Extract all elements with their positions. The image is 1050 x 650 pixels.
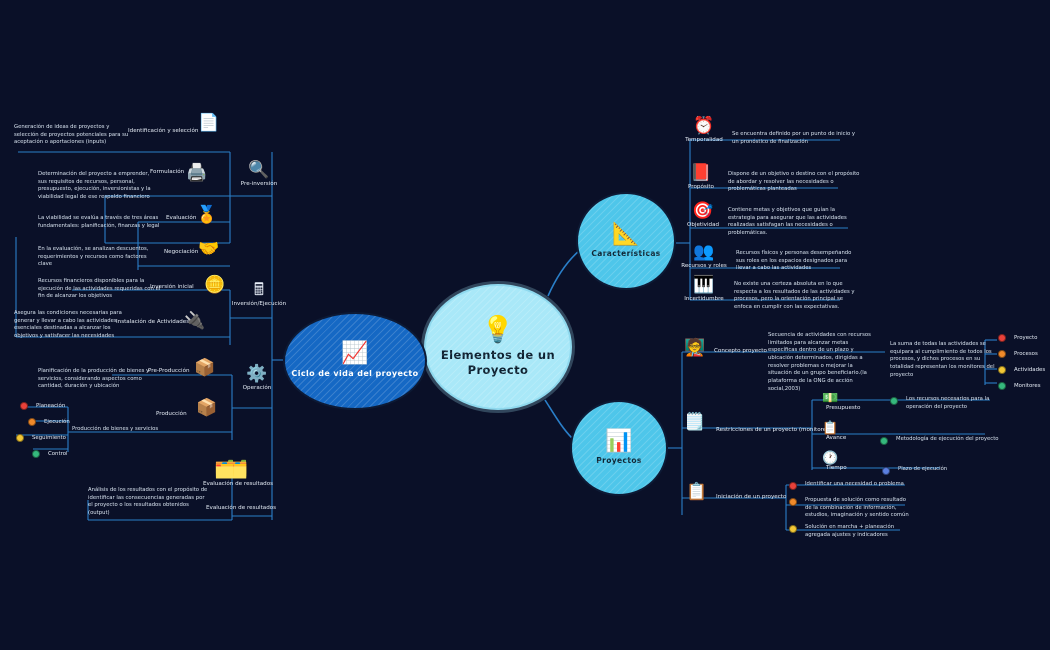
restriction-avance[interactable]: 📋 Avance — [822, 422, 878, 454]
lifecycle-item-label: Evaluación — [166, 215, 196, 221]
lifecycle-item-desc: Determinación del proyecto a emprender, … — [38, 171, 158, 202]
legend-item-seguimiento[interactable]: Seguimiento — [16, 434, 80, 442]
branch-projects-label: Proyectos — [596, 456, 642, 465]
bullet-dot — [890, 397, 898, 405]
notebook-pencil-ruler-icon: 📐 — [612, 224, 639, 246]
initiation-item[interactable]: Propuesta de solución como resultado de … — [789, 497, 909, 520]
legend-item-planeacion[interactable]: Planeación — [20, 402, 80, 410]
characteristic-objetividad[interactable]: 🎯 Objetividad — [678, 203, 728, 228]
dashboard-analytics-icon: 📊 — [605, 431, 632, 453]
concept-legend: Proyecto Procesos Actividades Monitores — [998, 334, 1050, 390]
restriction-desc: Los recursos necesarios para la operació… — [906, 396, 1000, 411]
legend-item-control[interactable]: Control — [32, 450, 80, 458]
hierarchy-icon: 🗂️ — [196, 462, 280, 479]
lifecycle-item-produccion[interactable]: Producción de bienes y servicios — [72, 426, 212, 434]
restriction-presupuesto[interactable]: 💵 Presupuesto — [822, 392, 878, 424]
central-node[interactable]: 💡 Elementos de un Proyecto — [424, 284, 572, 410]
concept-desc: Secuencia de actividades con recursos li… — [768, 332, 878, 393]
restriction-desc-row: Plazo de ejecución — [882, 466, 992, 475]
restriction-desc: Metodología de ejecución del proyecto — [896, 436, 999, 444]
characteristic-label: Recursos y roles — [676, 263, 732, 269]
printer-icon: 🖨️ — [186, 165, 207, 182]
package-box-icon: 📦 — [196, 400, 217, 417]
power-plug-icon: 🔌 — [184, 313, 205, 330]
book-icon: 📕 — [678, 165, 724, 182]
legend-label: Ejecución — [44, 419, 70, 425]
initiation-item[interactable]: Identificar una necesidad o problema — [789, 481, 909, 490]
hierarchy-icon: 🗂️ — [214, 462, 235, 479]
lifecycle-item-label: Negociación — [164, 249, 198, 255]
branch-lifecycle-label: Ciclo de vida del proyecto — [291, 369, 418, 379]
bullet-dot — [882, 467, 890, 475]
legend-label: Planeación — [36, 403, 65, 409]
initiation-item[interactable]: Solución en marcha + planeación agregada… — [789, 524, 907, 539]
production-legend: Planeación Ejecución Seguimiento Control — [16, 402, 80, 458]
legend-item-actividades[interactable]: Actividades — [998, 366, 1050, 374]
boxes-icon: 📦 — [194, 360, 215, 377]
clock-icon: 🕐 — [822, 452, 878, 465]
document-search-icon: 📄 — [198, 115, 219, 132]
lifecycle-phase-label: Operación — [226, 385, 288, 391]
lifecycle-item-desc: Análisis de los resultados con el propós… — [88, 487, 210, 518]
legend-dot — [998, 334, 1006, 342]
folder-pencil-icon: 🗒️ — [684, 414, 705, 431]
lifecycle-item-desc: La viabilidad se evalúa a través de tres… — [38, 215, 162, 230]
lifecycle-item-label: Inversión inicial — [150, 284, 194, 290]
characteristic-label: Propósito — [678, 184, 724, 190]
calculator-icon: 🖩 — [222, 282, 296, 299]
idea-pix-icon: 💡 — [482, 317, 514, 343]
presentation-teacher-icon: 🧑‍🏫 — [684, 340, 705, 357]
checklist-icon: 📋 — [822, 422, 878, 435]
lifecycle-item-formulacion[interactable]: Determinación del proyecto a emprender, … — [38, 171, 158, 202]
concept-label: Concepto proyecto — [714, 348, 767, 354]
restrictions-label: Restricciones de un proyecto (monitores)… — [716, 427, 833, 433]
coin-dollar-icon: 🪙 — [204, 277, 225, 294]
characteristic-desc: Dispone de un objetivo o destino con el … — [728, 171, 860, 194]
legend-item-ejecucion[interactable]: Ejecución — [28, 418, 80, 426]
characteristic-desc: Se encuentra definido por un punto de in… — [732, 131, 860, 146]
lifecycle-item-label: Evaluación de resultados — [206, 505, 276, 511]
characteristic-label: Incertidumbre — [676, 296, 732, 302]
characteristic-incertidumbre[interactable]: 🎹 Incertidumbre — [676, 277, 732, 302]
restriction-desc: Plazo de ejecución — [898, 466, 947, 474]
lifecycle-item-negociacion[interactable]: En la evaluación, se analizan descuentos… — [38, 246, 162, 269]
gears-icon: ⚙️ — [226, 366, 288, 383]
legend-dot — [28, 418, 36, 426]
lifecycle-item-label: Formulación — [150, 169, 184, 175]
characteristic-recursos-roles[interactable]: 👥 Recursos y roles — [676, 244, 732, 269]
lifecycle-phase-label: Pre-inversión — [228, 181, 290, 187]
legend-dot — [20, 402, 28, 410]
branch-projects[interactable]: 📊 Proyectos — [570, 400, 668, 496]
lifecycle-item-instalacion[interactable]: Asegura las condiciones necesarias para … — [14, 310, 132, 341]
lifecycle-phase-pre-inversion[interactable]: 🔍 Pre-inversión — [228, 162, 290, 187]
lifecycle-item-evaluacion-resultados[interactable]: Análisis de los resultados con el propós… — [88, 487, 210, 518]
lifecycle-item-desc: Asegura las condiciones necesarias para … — [14, 310, 132, 341]
lifecycle-phase-operacion[interactable]: ⚙️ Operación — [226, 366, 288, 391]
hatch-texture — [426, 286, 570, 408]
lifecycle-item-inversion-inicial[interactable]: Recursos financieros disponibles para la… — [38, 278, 162, 301]
lifecycle-phase-inversion-ejecucion[interactable]: 🖩 Inversión/Ejecución — [222, 282, 296, 307]
legend-label: Actividades — [1014, 367, 1045, 373]
legend-dot — [16, 434, 24, 442]
restriction-tiempo[interactable]: 🕐 Tiempo — [822, 452, 878, 484]
mindmap-canvas: 💡 Elementos de un Proyecto 📈 Ciclo de vi… — [0, 0, 1050, 650]
barcode-icon: 🎹 — [676, 277, 732, 294]
characteristic-label: Temporalidad — [678, 137, 730, 143]
lifecycle-item-desc: Planificación de la producción de bienes… — [38, 368, 162, 391]
legend-item-procesos[interactable]: Procesos — [998, 350, 1050, 358]
initiation-desc: Identificar una necesidad o problema — [805, 481, 904, 489]
legend-label: Control — [48, 451, 68, 457]
lifecycle-item-desc: Producción de bienes y servicios — [72, 426, 212, 434]
branch-lifecycle[interactable]: 📈 Ciclo de vida del proyecto — [283, 312, 427, 410]
legend-dot — [998, 350, 1006, 358]
handshake-table-icon: 🤝 — [198, 241, 219, 258]
team-people-icon: 👥 — [676, 244, 732, 261]
initiation-desc: Propuesta de solución como resultado de … — [805, 497, 909, 520]
characteristic-proposito[interactable]: 📕 Propósito — [678, 165, 724, 190]
legend-label: Procesos — [1014, 351, 1038, 357]
characteristic-desc: Contiene metas y objetivos que guían la … — [728, 207, 862, 238]
medal-ribbon-icon: 🏅 — [196, 207, 217, 224]
lifecycle-item-pre-produccion[interactable]: Planificación de la producción de bienes… — [38, 368, 162, 391]
characteristic-label: Objetividad — [678, 222, 728, 228]
bullet-dot — [880, 437, 888, 445]
bullet-dot — [789, 498, 797, 506]
lifecycle-item-evaluacion[interactable]: La viabilidad se evalúa a través de tres… — [38, 215, 162, 230]
magnifier-icon: 🔍 — [228, 162, 290, 179]
legend-dot — [998, 366, 1006, 374]
legend-label: Seguimiento — [32, 435, 66, 441]
lifecycle-item-label: Instalación de Actividades — [116, 319, 189, 325]
clipboard-person-icon: 📋 — [686, 484, 707, 501]
lifecycle-item-label: Pre-Producción — [148, 368, 190, 374]
bullet-dot — [789, 525, 797, 533]
characteristic-desc: Recursos físicos y personas desempeñando… — [736, 250, 858, 273]
characteristic-temporalidad[interactable]: ⏰ Temporalidad — [678, 118, 730, 143]
characteristic-desc: No existe una certeza absoluta en lo que… — [734, 281, 860, 312]
legend-item-monitores[interactable]: Monitores — [998, 382, 1050, 390]
legend-dot — [32, 450, 40, 458]
target-dart-icon: 🎯 — [678, 203, 728, 220]
lifecycle-item-desc: Generación de ideas de proyectos y selec… — [14, 124, 130, 147]
lifecycle-item-label: Producción — [156, 411, 187, 417]
lifecycle-item-desc: Recursos financieros disponibles para la… — [38, 278, 162, 301]
bullet-dot — [789, 482, 797, 490]
lifecycle-phase-label: Inversión/Ejecución — [222, 301, 296, 307]
initiation-label: Iniciación de un proyecto — [716, 494, 786, 500]
legend-label: Monitores — [1014, 383, 1041, 389]
concept-side-desc: La suma de todas las actividades se equi… — [890, 341, 998, 379]
legend-dot — [998, 382, 1006, 390]
branch-characteristics-label: Características — [591, 249, 660, 258]
central-node-label: Elementos de un Proyecto — [441, 348, 555, 377]
growth-chart-person-icon: 📈 — [341, 343, 368, 365]
legend-label: Proyecto — [1014, 335, 1037, 341]
branch-characteristics[interactable]: 📐 Características — [576, 192, 676, 290]
money-bill-icon: 💵 — [822, 392, 878, 405]
alarm-clock-icon: ⏰ — [678, 118, 730, 135]
restriction-desc-row: Metodología de ejecución del proyecto — [880, 436, 1000, 445]
initiation-desc: Solución en marcha + planeación agregada… — [805, 524, 907, 539]
legend-item-proyecto[interactable]: Proyecto — [998, 334, 1050, 342]
lifecycle-item-desc: En la evaluación, se analizan descuentos… — [38, 246, 162, 269]
restriction-desc-row: Los recursos necesarios para la operació… — [890, 396, 1000, 411]
lifecycle-phase-evaluacion-resultados[interactable]: 🗂️ Evaluación de resultados — [196, 462, 280, 487]
